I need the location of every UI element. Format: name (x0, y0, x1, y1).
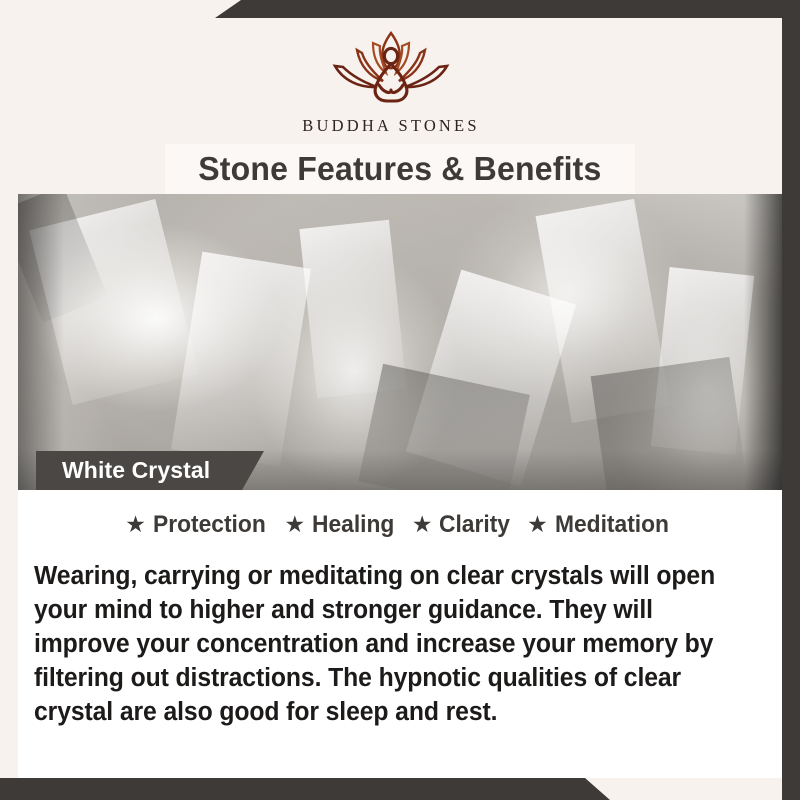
title-bar: Stone Features & Benefits (165, 144, 635, 194)
header: BUDDHA STONES Stone Features & Benefits (0, 18, 782, 194)
stone-description: Wearing, carrying or meditating on clear… (34, 560, 744, 730)
frame-band-bottom (0, 778, 610, 800)
benefits-list: ★ Protection ★ Healing ★ Clarity ★ Medit… (18, 490, 782, 554)
frame-band-top (215, 0, 800, 18)
photo-vignette (18, 194, 782, 490)
stone-name-banner: White Crystal (36, 451, 264, 490)
page-surface: BUDDHA STONES Stone Features & Benefits … (0, 18, 782, 778)
star-icon: ★ (527, 513, 548, 536)
star-icon: ★ (412, 513, 433, 536)
brand-logo: BUDDHA STONES (0, 26, 782, 136)
hero-photo: White Crystal (18, 194, 782, 490)
benefit-label: Protection (153, 511, 266, 539)
benefit-label: Healing (312, 511, 394, 539)
lotus-meditation-figure-icon (321, 26, 461, 110)
benefit-label: Meditation (555, 511, 669, 539)
stone-features-poster: BUDDHA STONES Stone Features & Benefits … (0, 0, 800, 800)
content-area: ★ Protection ★ Healing ★ Clarity ★ Medit… (18, 490, 782, 778)
star-icon: ★ (285, 513, 306, 536)
page-title: Stone Features & Benefits (198, 150, 601, 188)
brand-name: BUDDHA STONES (0, 116, 782, 136)
benefit-item-meditation: ★ Meditation (527, 511, 675, 539)
benefit-item-healing: ★ Healing (285, 511, 399, 539)
star-icon: ★ (125, 513, 146, 536)
benefit-item-protection: ★ Protection (125, 511, 271, 539)
benefit-label: Clarity (439, 511, 510, 539)
frame-band-right (782, 18, 800, 800)
benefit-item-clarity: ★ Clarity (412, 511, 514, 539)
stone-name: White Crystal (62, 457, 210, 484)
